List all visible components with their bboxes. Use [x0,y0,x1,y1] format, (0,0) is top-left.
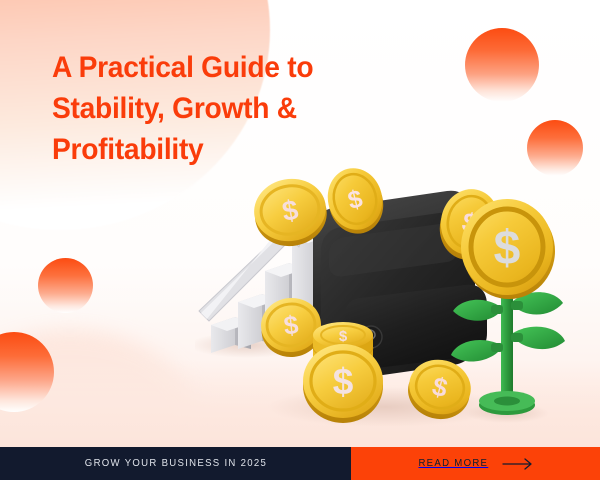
page-title: A Practical Guide to Stability, Growth &… [52,47,381,170]
gold-coin-stack: $ $ [303,322,383,423]
finance-growth-illustration: $ $ $ $ [195,155,600,440]
footer-tagline: GROW YOUR BUSINESS IN 2025 [84,458,266,469]
coin-leaning-front: $ [303,344,383,423]
gradient-circle-left-small [38,258,93,313]
promo-banner: A Practical Guide to Stability, Growth &… [0,0,600,480]
arrow-right-icon [502,458,534,470]
footer-tagline-section: GROW YOUR BUSINESS IN 2025 [0,447,351,480]
coin-flower: $ [461,199,555,299]
footer-bar: GROW YOUR BUSINESS IN 2025 READ MORE [0,447,600,480]
svg-text:$: $ [339,328,348,345]
read-more-label: READ MORE [418,458,488,469]
read-more-button[interactable]: READ MORE [351,447,600,480]
svg-text:$: $ [333,361,354,402]
gradient-circle-top-right-large [465,28,539,102]
plant-pot-base [479,391,535,415]
svg-text:$: $ [494,222,521,275]
